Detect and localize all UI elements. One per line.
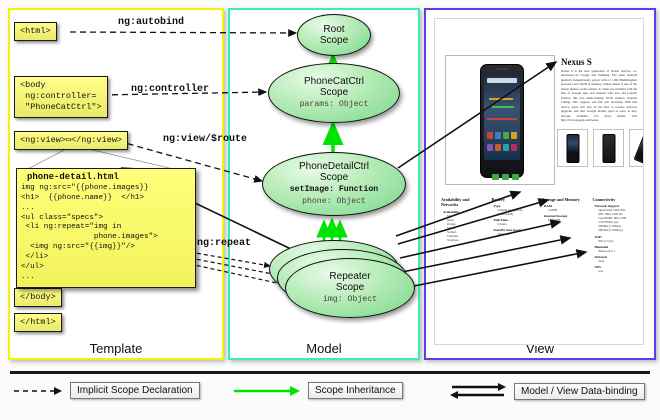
spec-value: Vodafone xyxy=(441,238,488,242)
phone-illustration xyxy=(480,64,524,178)
spec-header: Connectivity xyxy=(593,197,640,202)
specs-table: Availability and Networks Availability M… xyxy=(441,197,639,273)
legend-label: Implicit Scope Declaration xyxy=(70,382,200,399)
scope-phonedetailctrl: PhoneDetailCtrlScope setImage: Function … xyxy=(262,152,406,216)
phone-app-icons xyxy=(487,132,517,154)
template-detail-file-box: phone-detail.html img ng:src="{{phone.im… xyxy=(16,168,196,288)
scope-repeater-title: RepeaterScope xyxy=(329,271,370,293)
panel-template-label: Template xyxy=(10,341,222,356)
panel-model-label: Model xyxy=(230,341,418,356)
tag-html-open: <html> xyxy=(14,22,57,41)
label-ng-repeat: ng:repeat xyxy=(197,238,251,249)
spec-value: 512MB xyxy=(542,208,589,212)
phone-screen xyxy=(484,74,520,160)
thumbnail-row xyxy=(557,129,644,167)
tag-ngview: <ng:view>▭</ng:view> xyxy=(14,131,128,150)
spec-value: 428 hours xyxy=(492,232,539,236)
scope-phonedetailctrl-title: PhoneDetailCtrlScope xyxy=(299,161,369,183)
phone-hero-image-frame xyxy=(445,55,555,185)
scope-phonecatctrl: PhoneCatCtrlScope params: Object xyxy=(268,63,400,123)
dashed-arrow-icon xyxy=(12,385,64,397)
spec-column: Availability and Networks Availability M… xyxy=(441,197,488,273)
thumbnail-front[interactable] xyxy=(557,129,588,167)
phone-urlbar xyxy=(487,78,517,83)
label-ng-autobind: ng:autobind xyxy=(118,17,184,28)
scope-root: RootScope xyxy=(297,14,371,56)
tag-html-close: </html> xyxy=(14,313,62,332)
phone-accent-a xyxy=(489,98,513,100)
legend-model-view-data-binding: Model / View Data-binding xyxy=(448,382,645,400)
spec-header: Availability and Networks xyxy=(441,197,488,208)
scope-repeater-prop-img: img: Object xyxy=(323,295,377,305)
scope-phonecatctrl-prop-params: params: Object xyxy=(300,100,369,110)
rendered-view-page: Nexus S Nexus S is the new generation of… xyxy=(434,18,644,345)
spec-header: Battery xyxy=(492,197,539,202)
legend-scope-inheritance: Scope Inheritance xyxy=(232,382,403,399)
phone-accent-c xyxy=(487,118,517,120)
specs-columns: Availability and Networks Availability M… xyxy=(441,197,639,273)
spec-value: true xyxy=(593,269,640,273)
spec-column: Storage and Memory RAM 512MB Internal St… xyxy=(542,197,589,273)
phone-accent-b xyxy=(492,106,514,108)
green-arrow-icon xyxy=(232,385,302,397)
label-ng-view-route: ng:view/$route xyxy=(163,134,247,145)
spec-value: false xyxy=(593,259,640,263)
phone-dock-buttons xyxy=(489,174,521,181)
phone-speaker xyxy=(495,68,509,70)
scope-phonedetailctrl-prop-phone: phone: Object xyxy=(302,197,366,207)
spec-value: 16384MB xyxy=(542,218,589,222)
spec-value: 6 hours xyxy=(492,222,539,226)
thumbnail-angled[interactable] xyxy=(629,129,644,167)
scope-repeater: RepeaterScope img: Object xyxy=(285,258,415,318)
spec-value: (1500 mAH) xyxy=(492,212,539,216)
spec-header: Storage and Memory xyxy=(542,197,589,202)
spec-value: 802.11 b/g/n xyxy=(593,239,640,243)
scope-phonecatctrl-title: PhoneCatCtrlScope xyxy=(304,76,364,98)
tag-body-close: </body> xyxy=(14,288,62,307)
diagram-canvas: Template <html> <body ng:controller= "Ph… xyxy=(0,0,660,420)
thumbnail-back[interactable] xyxy=(593,129,624,167)
product-title: Nexus S xyxy=(561,57,592,67)
detail-file-code: img ng:src="{{phone.images}} <h1> {{phon… xyxy=(21,184,191,283)
legend-divider xyxy=(10,371,650,374)
detail-file-name: phone-detail.html xyxy=(21,171,191,184)
scope-phonedetailctrl-prop-setimage: setImage: Function xyxy=(290,185,378,195)
spec-column: Connectivity Network Support Quad-band G… xyxy=(593,197,640,273)
legend-label: Scope Inheritance xyxy=(308,382,403,399)
legend-label: Model / View Data-binding xyxy=(514,383,645,400)
legend-implicit-scope-declaration: Implicit Scope Declaration xyxy=(12,382,200,399)
product-description: Nexus S is the new generation of Nexus d… xyxy=(561,69,637,123)
spec-value: Bluetooth 2.1 xyxy=(593,249,640,253)
tag-body-open: <body ng:controller= "PhoneCatCtrl"> xyxy=(14,76,108,118)
double-arrow-icon xyxy=(448,382,508,400)
scope-root-title: RootScope xyxy=(320,24,348,46)
spec-column: Battery Type Lithium Ion (Li-Ion) (1500 … xyxy=(492,197,539,273)
label-ng-controller: ng:controller xyxy=(131,84,209,95)
spec-value: HSUPA (5.76Mbps) xyxy=(593,228,640,232)
